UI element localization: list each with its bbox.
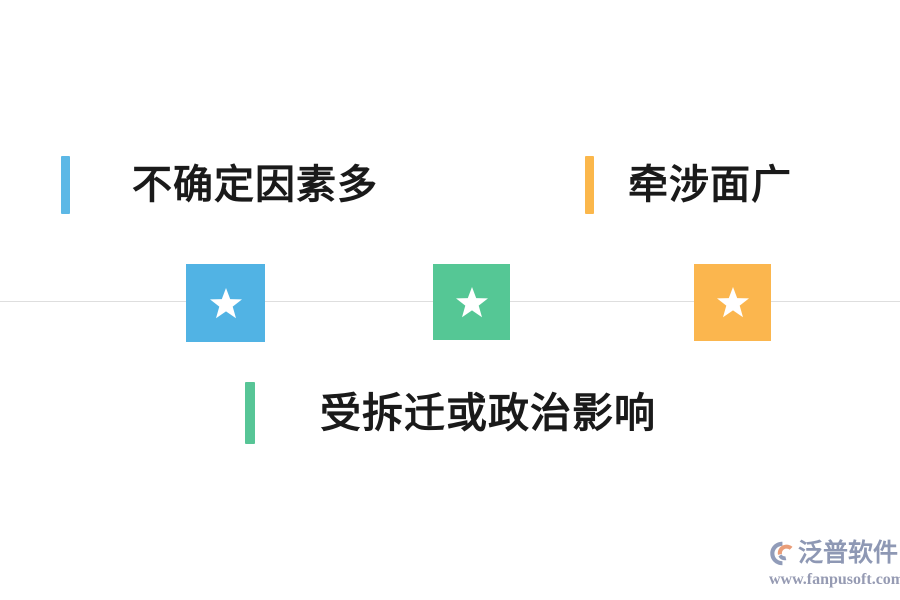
heading-demolition-label: 受拆迁或政治影响 — [320, 393, 656, 434]
star-tile-green — [433, 264, 510, 340]
heading-demolition: 受拆迁或政治影响 — [245, 382, 656, 444]
slide-canvas: 不确定因素多 牵涉面广 受拆迁或政治影响 泛普软件 — [0, 0, 900, 600]
fanpu-logo-icon — [768, 539, 796, 567]
watermark-brand-label: 泛普软件 — [798, 541, 898, 566]
star-tile-blue — [186, 264, 265, 342]
heading-scope: 牵涉面广 — [585, 156, 792, 214]
orange-accent-bar — [585, 156, 594, 214]
heading-scope-label: 牵涉面广 — [628, 165, 792, 205]
star-icon — [716, 286, 750, 319]
watermark: 泛普软件 www.fanpusoft.com — [768, 536, 896, 592]
star-icon — [209, 287, 243, 320]
blue-accent-bar — [61, 156, 70, 214]
star-tile-orange — [694, 264, 771, 341]
heading-uncertainty-label: 不确定因素多 — [132, 165, 378, 205]
green-accent-bar — [245, 382, 255, 444]
watermark-brand-row: 泛普软件 — [768, 536, 896, 570]
star-icon — [455, 286, 489, 319]
heading-uncertainty: 不确定因素多 — [61, 156, 378, 214]
watermark-url-label: www.fanpusoft.com — [769, 572, 896, 588]
